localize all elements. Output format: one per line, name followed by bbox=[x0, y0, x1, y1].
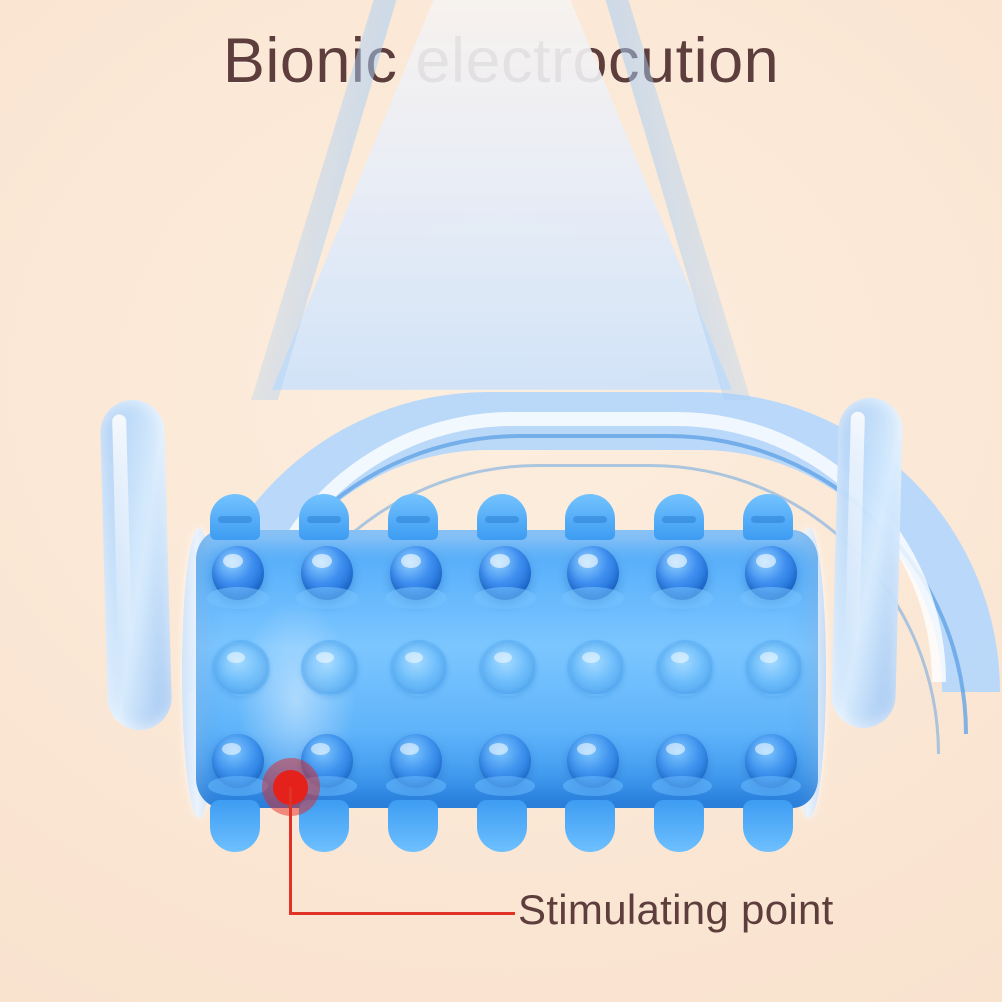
roller-rim-nub-bottom bbox=[388, 800, 438, 852]
roller-nub-base bbox=[652, 776, 712, 796]
roller-nub-base bbox=[296, 587, 358, 609]
roller-nub bbox=[567, 546, 619, 600]
product-infographic: Bionic electrocution Stimulating point bbox=[0, 0, 1002, 1002]
roller-rim-nub-top bbox=[743, 494, 793, 540]
roller-nub bbox=[656, 640, 714, 696]
roller-nub bbox=[656, 734, 708, 788]
roller-nub-base bbox=[386, 776, 446, 796]
roller-nub bbox=[301, 640, 359, 696]
roller-nub-base bbox=[474, 587, 536, 609]
roller-nub bbox=[479, 546, 531, 600]
roller-nub bbox=[390, 640, 448, 696]
roller-nub bbox=[390, 734, 442, 788]
roller-rim-nub-bottom bbox=[565, 800, 615, 852]
roller-nub bbox=[212, 734, 264, 788]
roller-rim-nub-top bbox=[565, 494, 615, 540]
roller-rim-nub-top bbox=[299, 494, 349, 540]
handle-leg-right bbox=[831, 397, 904, 729]
roller-nub bbox=[745, 734, 797, 788]
roller-nub-base bbox=[475, 776, 535, 796]
massage-roller bbox=[180, 488, 830, 863]
roller-rim-nub-top bbox=[210, 494, 260, 540]
roller-nub-base bbox=[651, 587, 713, 609]
roller-rim-nub-top bbox=[477, 494, 527, 540]
roller-nub-base bbox=[207, 587, 269, 609]
roller-nub bbox=[479, 734, 531, 788]
roller-nub-base bbox=[385, 587, 447, 609]
roller-nub-base bbox=[208, 776, 268, 796]
roller-nub bbox=[745, 640, 803, 696]
roller-nub-base bbox=[297, 776, 357, 796]
roller-rim-nub-bottom bbox=[299, 800, 349, 852]
roller-rim-nub-bottom bbox=[743, 800, 793, 852]
roller-nub bbox=[212, 640, 270, 696]
roller-nub bbox=[656, 546, 708, 600]
roller-nub bbox=[212, 546, 264, 600]
roller-nub-base bbox=[741, 776, 801, 796]
roller-nub bbox=[745, 546, 797, 600]
roller-rim-nub-bottom bbox=[477, 800, 527, 852]
roller-nub bbox=[567, 734, 619, 788]
roller-rim-nub-top bbox=[388, 494, 438, 540]
roller-nub bbox=[479, 640, 537, 696]
roller-rim-nub-bottom bbox=[210, 800, 260, 852]
roller-nub bbox=[301, 734, 353, 788]
roller-rim-nub-top bbox=[654, 494, 704, 540]
roller-rim-nub-bottom bbox=[654, 800, 704, 852]
roller-nub-base bbox=[563, 776, 623, 796]
handle-leg-left bbox=[100, 399, 173, 731]
roller-nub bbox=[301, 546, 353, 600]
roller-nub-base bbox=[562, 587, 624, 609]
roller-nub bbox=[390, 546, 442, 600]
roller-nub-base bbox=[740, 587, 802, 609]
product-illustration bbox=[0, 0, 1002, 1002]
